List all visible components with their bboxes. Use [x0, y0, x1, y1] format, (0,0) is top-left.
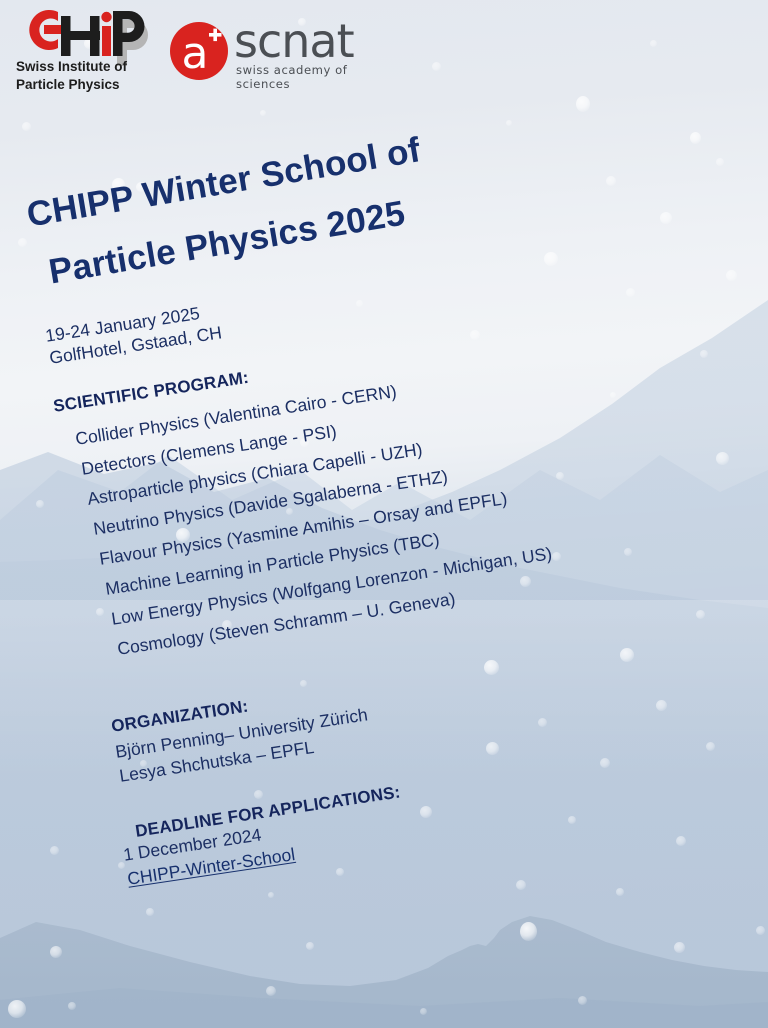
deadline-heading: DEADLINE FOR APPLICATIONS:	[134, 782, 402, 841]
chipp-subtitle: Swiss Institute of Particle Physics	[16, 58, 127, 94]
poster-canvas: Swiss Institute of Particle Physics a sc…	[0, 0, 768, 1028]
scnat-wordmark: scnat	[234, 14, 354, 68]
chipp-subtitle-line1: Swiss Institute of	[16, 58, 127, 76]
logo-bar: Swiss Institute of Particle Physics a sc…	[0, 0, 768, 110]
svg-text:a: a	[182, 28, 209, 79]
scnat-tagline: swiss academy of sciences	[236, 63, 368, 91]
chipp-wordmark-icon	[14, 6, 164, 62]
chipp-subtitle-line2: Particle Physics	[16, 76, 127, 94]
chipp-logo: Swiss Institute of Particle Physics	[14, 6, 164, 102]
scnat-logo: a scnat swiss academy of sciences	[168, 18, 368, 84]
scnat-mark-icon: a	[168, 20, 230, 82]
